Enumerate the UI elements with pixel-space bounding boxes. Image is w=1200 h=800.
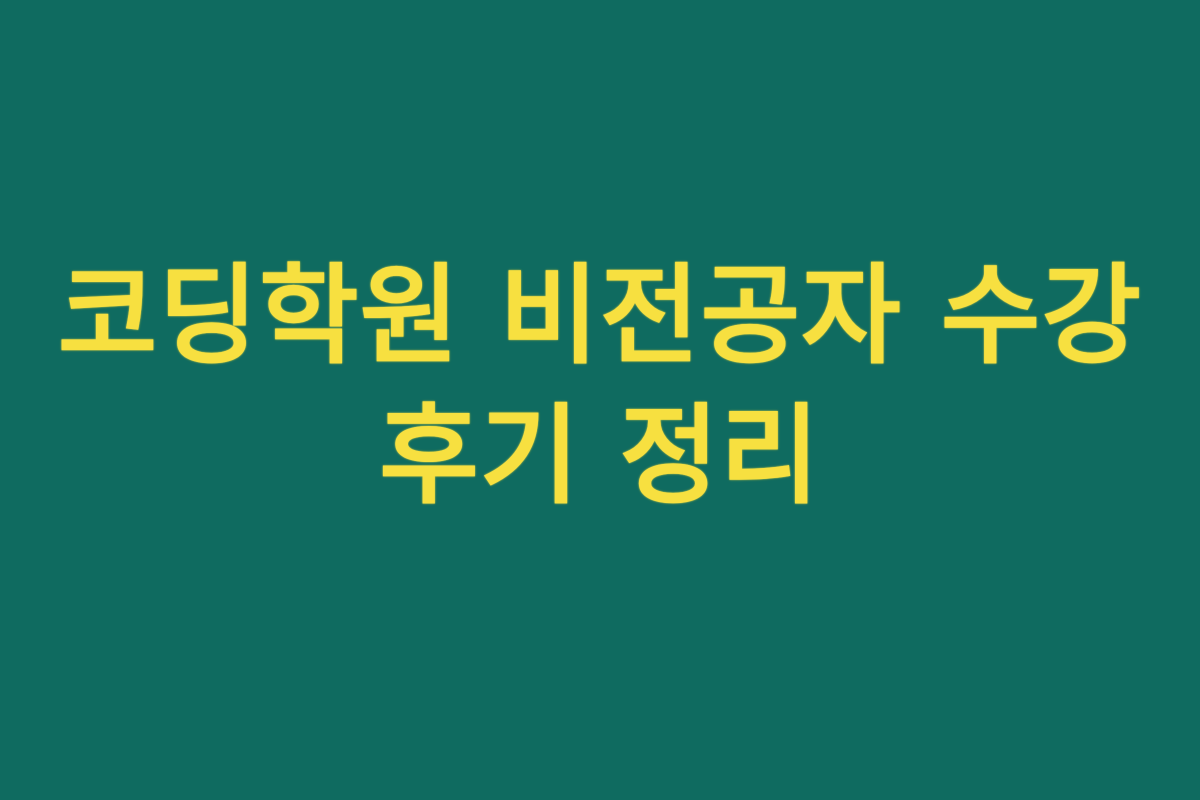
title-line-2: 후기 정리 <box>0 387 1200 527</box>
page-title: 코딩학원 비전공자 수강 후기 정리 <box>0 247 1200 527</box>
banner-background: 코딩학원 비전공자 수강 후기 정리 <box>0 0 1200 800</box>
title-line-1: 코딩학원 비전공자 수강 <box>0 247 1200 387</box>
